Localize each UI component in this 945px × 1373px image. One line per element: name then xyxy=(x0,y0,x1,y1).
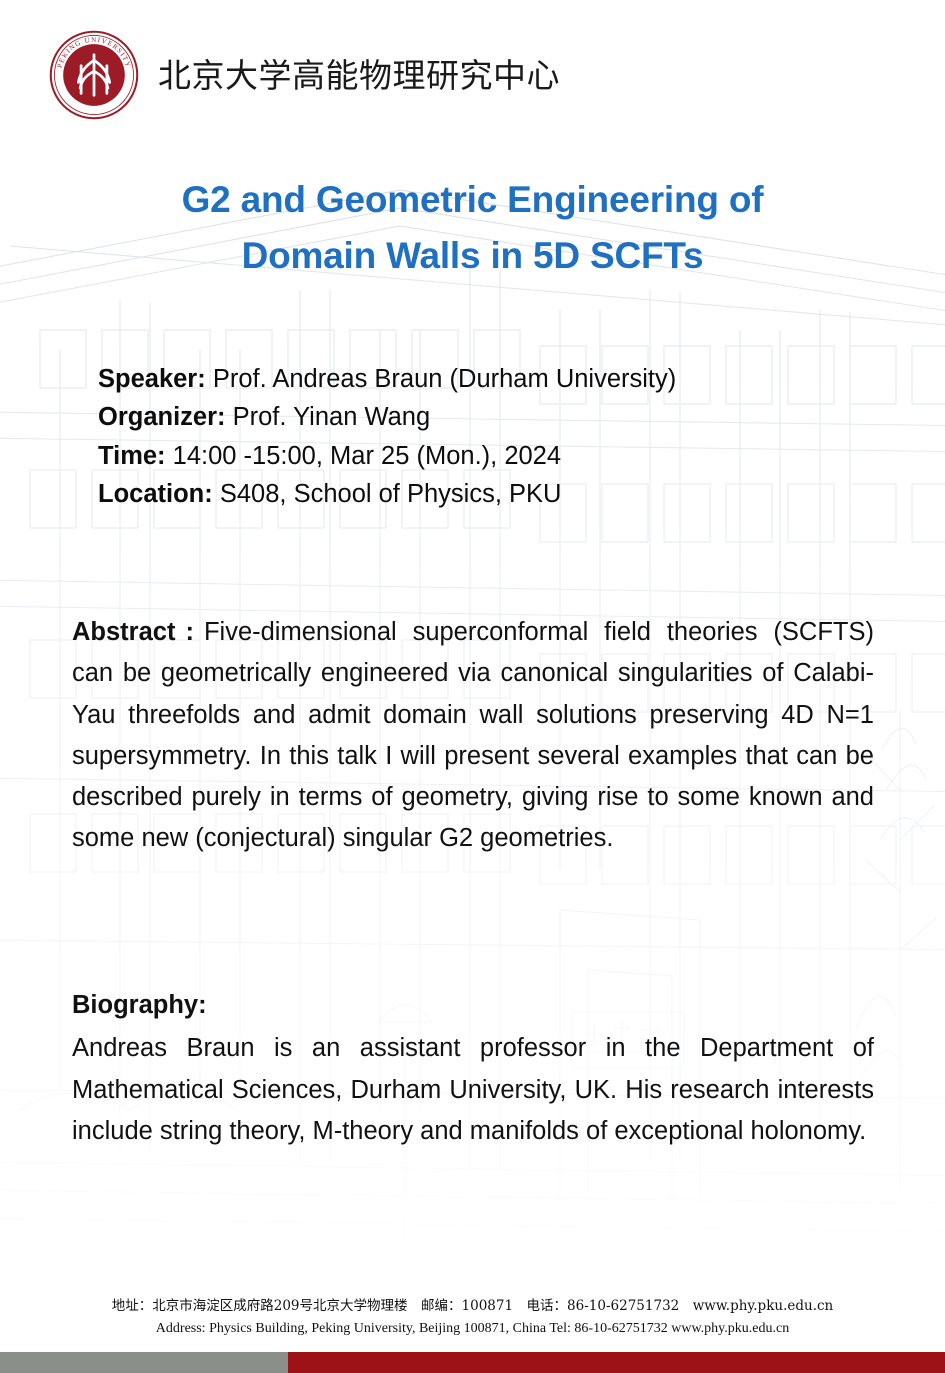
time-line: Time: 14:00 -15:00, Mar 25 (Mon.), 2024 xyxy=(98,437,888,475)
bottom-bar-gray-segment xyxy=(0,1352,288,1373)
time-value: 14:00 -15:00, Mar 25 (Mon.), 2024 xyxy=(173,442,561,470)
poster-page: PEKING UNIVERSITY 1898 北京大学高能物理研究中 xyxy=(0,0,945,1373)
bottom-bar-red-segment xyxy=(288,1352,945,1373)
time-label: Time: xyxy=(98,442,166,470)
peking-university-seal-icon: PEKING UNIVERSITY 1898 xyxy=(48,29,140,121)
biography-body: Andreas Braun is an assistant professor … xyxy=(72,1028,874,1152)
title-line-2: Domain Walls in 5D SCFTs xyxy=(0,228,945,284)
organizer-line: Organizer: Prof. Yinan Wang xyxy=(98,398,888,436)
biography-label: Biography: xyxy=(72,985,874,1026)
title-line-1: G2 and Geometric Engineering of xyxy=(0,172,945,228)
organizer-label: Organizer: xyxy=(98,403,226,431)
speaker-value: Prof. Andreas Braun (Durham University) xyxy=(213,365,676,393)
organization-name: 北京大学高能物理研究中心 xyxy=(158,59,560,92)
speaker-line: Speaker: Prof. Andreas Braun (Durham Uni… xyxy=(98,360,888,398)
poster-header: PEKING UNIVERSITY 1898 北京大学高能物理研究中 xyxy=(0,0,945,150)
talk-details: Speaker: Prof. Andreas Braun (Durham Uni… xyxy=(98,360,888,513)
abstract-separator: : xyxy=(175,618,204,646)
poster-footer: 地址：北京市海淀区成府路209号北京大学物理楼 邮编：100871 电话：86-… xyxy=(0,1296,945,1341)
location-label: Location: xyxy=(98,480,213,508)
location-value: S408, School of Physics, PKU xyxy=(220,480,562,508)
bottom-color-bar xyxy=(0,1352,945,1373)
speaker-label: Speaker: xyxy=(98,365,206,393)
abstract-paragraph: Abstract:Five-dimensional superconformal… xyxy=(72,612,874,860)
biography-section: Biography: Andreas Braun is an assistant… xyxy=(72,985,874,1152)
abstract-label: Abstract xyxy=(72,618,175,646)
organizer-value: Prof. Yinan Wang xyxy=(233,403,431,431)
footer-address-en: Address: Physics Building, Peking Univer… xyxy=(0,1318,945,1341)
poster-title: G2 and Geometric Engineering of Domain W… xyxy=(0,172,945,284)
abstract-body: Five-dimensional superconformal field th… xyxy=(72,618,874,852)
location-line: Location: S408, School of Physics, PKU xyxy=(98,475,888,513)
abstract-section: Abstract:Five-dimensional superconformal… xyxy=(72,612,874,860)
footer-address-cn: 地址：北京市海淀区成府路209号北京大学物理楼 邮编：100871 电话：86-… xyxy=(0,1296,945,1318)
